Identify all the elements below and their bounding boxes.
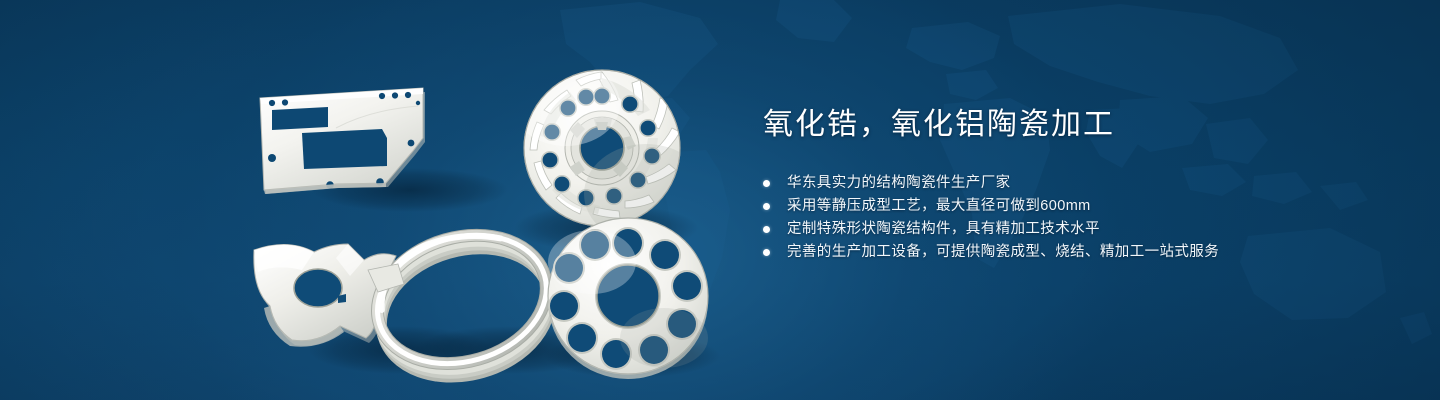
feature-bullet-item: 华东具实力的结构陶瓷件生产厂家 <box>763 172 1383 195</box>
bullet-dot-icon <box>763 249 770 256</box>
bullet-dot-icon <box>763 180 770 187</box>
ceramic-products-image <box>240 38 710 388</box>
feature-bullet-text: 定制特殊形状陶瓷结构件，具有精加工技术水平 <box>787 218 1100 241</box>
feature-bullet-list: 华东具实力的结构陶瓷件生产厂家 采用等静压成型工艺，最大直径可做到600mm 定… <box>763 172 1383 264</box>
feature-bullet-item: 定制特殊形状陶瓷结构件，具有精加工技术水平 <box>763 218 1383 241</box>
feature-bullet-item: 完善的生产加工设备，可提供陶瓷成型、烧结、精加工一站式服务 <box>763 241 1383 264</box>
feature-bullet-text: 华东具实力的结构陶瓷件生产厂家 <box>787 172 1011 195</box>
hero-banner: 氧化锆，氧化铝陶瓷加工 华东具实力的结构陶瓷件生产厂家 采用等静压成型工艺，最大… <box>0 0 1440 400</box>
bullet-dot-icon <box>763 203 770 210</box>
banner-title: 氧化锆，氧化铝陶瓷加工 <box>763 108 1383 143</box>
feature-bullet-item: 采用等静压成型工艺，最大直径可做到600mm <box>763 195 1383 218</box>
feature-bullet-text: 完善的生产加工设备，可提供陶瓷成型、烧结、精加工一站式服务 <box>787 241 1219 264</box>
feature-bullet-text: 采用等静压成型工艺，最大直径可做到600mm <box>787 195 1091 218</box>
bullet-dot-icon <box>763 226 770 233</box>
perforated-ceramic-annular-disc <box>548 218 708 379</box>
banner-copy: 氧化锆，氧化铝陶瓷加工 华东具实力的结构陶瓷件生产厂家 采用等静压成型工艺，最大… <box>763 108 1383 264</box>
